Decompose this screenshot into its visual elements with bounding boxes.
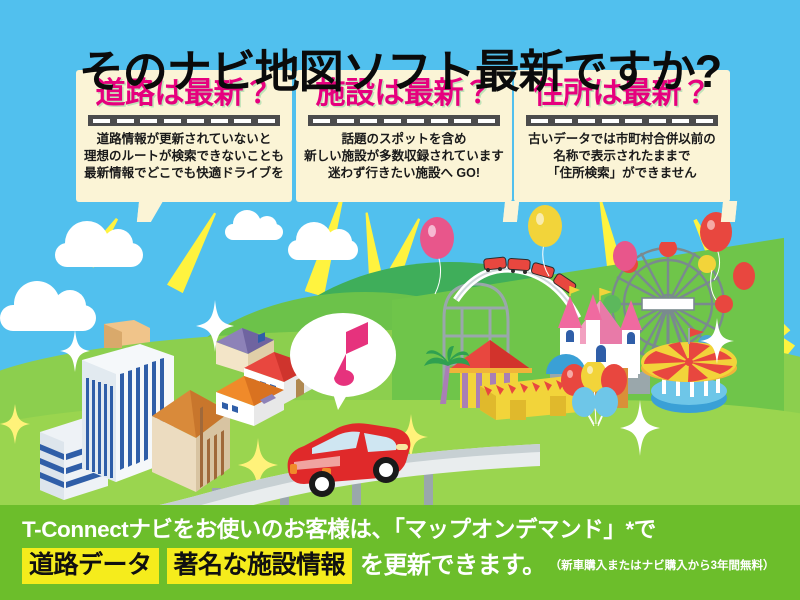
bubble-road-line-1: 道路情報が更新されていないと [82,131,286,148]
bubble-address-line-1: 古いデータでは市町村合併以前の [520,131,724,148]
banner-tail-text: を更新できます。 [360,551,546,581]
tree-6 [566,440,592,490]
bubble-road-line-3: 最新情報でどこでも快適ドライブを [82,165,286,182]
tree-5 [372,372,392,408]
tree-9 [700,418,724,464]
chip-road-data: 道路データ [22,548,159,584]
bubble-facility-line-3: 迷わず行きたい施設へ GO! [302,165,506,182]
bubble-tail [721,201,737,222]
tree-7 [612,452,636,498]
road-divider-graphic [526,115,718,126]
sparkle-6 [620,400,660,456]
poster-canvas: そのナビ地図ソフト最新ですか? 道路は最新？ 道路情報が更新されていないと 理想… [0,0,800,600]
bottom-banner: T-Connectナビをお使いのお客様は、「マップオンデマンド」*で 道路データ… [0,505,800,600]
red-car [282,418,414,500]
tree-3 [372,300,392,338]
road-divider-graphic [308,115,500,126]
chip-facility-info: 著名な施設情報 [167,548,353,584]
bubble-tail [503,201,519,222]
banner-headline: T-Connectナビをお使いのお客様は、「マップオンデマンド」*で [0,514,800,546]
road-divider-graphic [88,115,280,126]
tree-10 [742,432,768,482]
bubble-tail [137,201,163,222]
banner-second-line: 道路データ 著名な施設情報 を更新できます。 （新車購入またはナビ購入から3年間… [0,548,800,584]
bubble-facility-line-2: 新しい施設が多数収録されています [302,148,506,165]
bubble-address-line-3: 「住所検索」ができません [520,165,724,182]
tree-11 [776,408,800,454]
sparkle-icon [620,400,660,456]
bubble-facility-line-1: 話題のスポットを含め [302,131,506,148]
bubble-road-line-2: 理想のルートが検索できないことも [82,148,286,165]
banner-footnote: （新車購入またはナビ購入から3年間無料） [550,551,775,584]
sparkle-icon [700,318,734,364]
tree-8 [660,438,686,488]
bubble-address-line-2: 名称で表示されたままで [520,148,724,165]
car-icon [282,418,414,500]
tree-4 [378,336,400,376]
sparkle-7 [700,318,734,364]
page-title: そのナビ地図ソフト最新ですか? [0,38,800,96]
